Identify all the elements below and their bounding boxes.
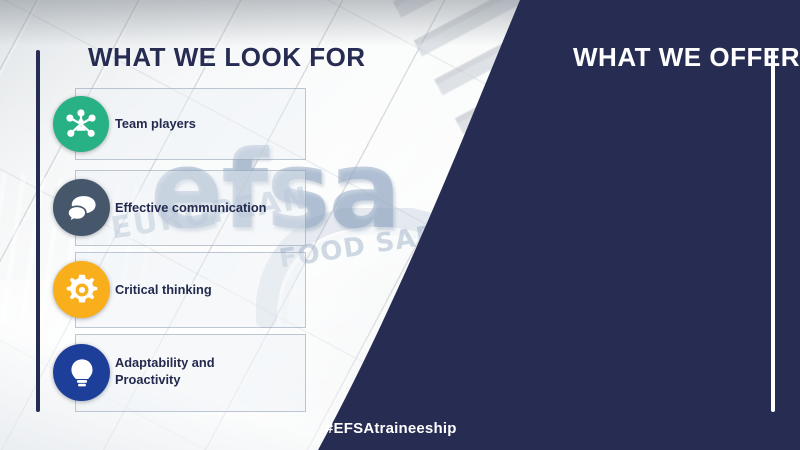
hashtag-label: #EFSAtraineeship: [325, 420, 457, 437]
right-panel-heading: WHAT WE OFFER: [573, 42, 800, 73]
left-panel-heading: WHAT WE LOOK FOR: [88, 42, 366, 73]
right-vertical-rule: [771, 50, 775, 412]
infographic-slide: efsa EUROPEAN FOOD SAFETY WHAT WE LOOK F…: [0, 0, 800, 450]
left-vertical-rule: [36, 50, 40, 412]
